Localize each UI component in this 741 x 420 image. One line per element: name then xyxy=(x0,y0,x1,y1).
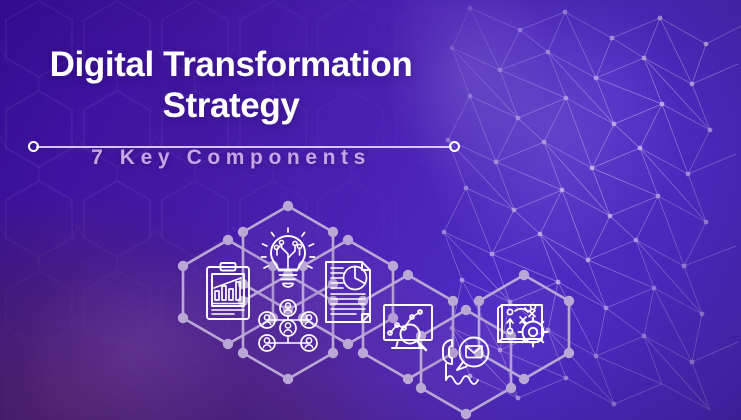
page-title: Digital Transformation Strategy xyxy=(0,44,462,126)
title-line-1: Digital Transformation xyxy=(0,44,462,85)
digital-transformation-banner: Digital Transformation Strategy 7 Key Co… xyxy=(0,0,741,420)
page-subtitle: 7 Key Components xyxy=(0,146,462,170)
title-line-2: Strategy xyxy=(0,85,462,126)
